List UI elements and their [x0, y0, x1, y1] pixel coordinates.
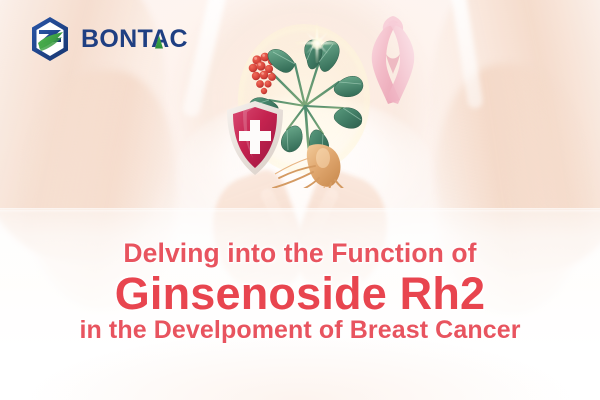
headline-line-1: Delving into the Function of	[0, 240, 600, 267]
pink-awareness-ribbon-icon	[356, 8, 430, 108]
poster-canvas: BONTAC Delving into the Function of Gins…	[0, 0, 600, 400]
brand-logo-text: BONTAC	[81, 27, 188, 52]
brand-logo[interactable]: BONTAC	[28, 16, 188, 62]
headline-block: Delving into the Function of Ginsenoside…	[0, 240, 600, 343]
logo-a-green-accent	[155, 36, 163, 49]
medical-shield-cross-icon	[222, 98, 288, 178]
headline-line-2: Ginsenoside Rh2	[0, 271, 600, 316]
sparkle-core-glow	[311, 37, 324, 50]
headline-line-3: in the Develpoment of Breast Cancer	[0, 318, 600, 343]
bontac-hexagon-logo	[28, 16, 72, 62]
